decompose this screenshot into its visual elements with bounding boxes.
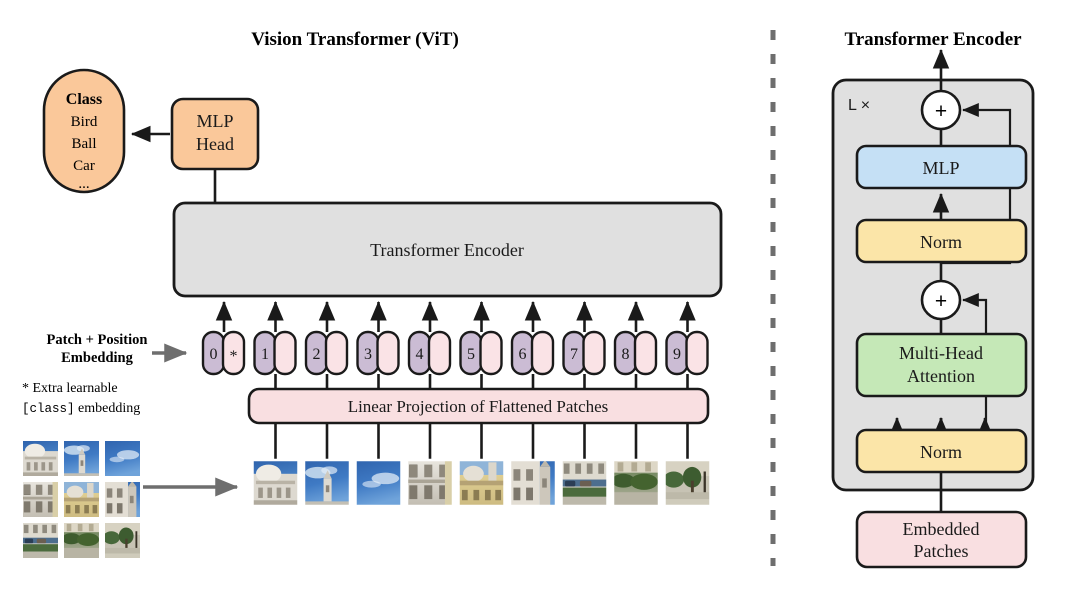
source-patch-2-2	[63, 481, 100, 518]
patch-to-projection-stems	[276, 423, 688, 460]
transformer-encoder-label: Transformer Encoder	[370, 240, 524, 260]
multi-head-attention-label-line2: Attention	[907, 366, 975, 386]
token-1-number: 1	[261, 346, 269, 363]
footnote-line2-rest: embedding	[75, 401, 141, 416]
class-item-bird: Bird	[71, 114, 98, 130]
encoder-repeat-label: L ×	[848, 97, 870, 114]
token-1-patch-capsule	[275, 332, 296, 374]
token-2[interactable]: 2	[306, 332, 347, 374]
flattened-patch-7-image	[562, 460, 608, 506]
token-7-patch-capsule	[584, 332, 605, 374]
token-3-patch-capsule	[378, 332, 399, 374]
patch-position-embedding-label-line1: Patch + Position	[47, 332, 148, 348]
token-4-number: 4	[416, 346, 424, 363]
flattened-patch-6	[510, 460, 556, 506]
mlp-head-label-line1: MLP	[196, 111, 233, 131]
token-2-patch-capsule	[326, 332, 347, 374]
flattened-patch-5	[459, 460, 505, 506]
token-9-patch-capsule	[687, 332, 708, 374]
class-output-heading: Class	[66, 91, 102, 108]
flattened-patch-1	[253, 460, 299, 506]
token-0[interactable]: 0*	[203, 332, 244, 374]
token-4-patch-capsule	[429, 332, 450, 374]
embedded-patches-label-line1: Embedded	[903, 519, 980, 539]
class-item-ball: Ball	[72, 136, 97, 152]
token-4[interactable]: 4	[409, 332, 450, 374]
footnote-class-token: [class]	[22, 402, 75, 416]
flattened-patch-8	[612, 460, 659, 506]
mlp-block-label: MLP	[922, 158, 959, 178]
residual-add-1-symbol: +	[935, 290, 947, 313]
token-8-patch-capsule	[635, 332, 656, 374]
token-6-patch-capsule	[532, 332, 553, 374]
flattened-patch-3-image	[356, 460, 402, 506]
source-patch-1-3	[104, 440, 141, 477]
token-1[interactable]: 1	[255, 332, 296, 374]
token-3-number: 3	[364, 346, 372, 363]
source-patch-3-1	[22, 522, 59, 559]
token-5[interactable]: 5	[461, 332, 502, 374]
source-patch-1-1	[22, 440, 59, 477]
embedded-patches-label-line2: Patches	[914, 541, 969, 561]
vit-architecture-diagram: Vision Transformer (ViT) Transformer Enc…	[0, 0, 1080, 593]
token-7-number: 7	[570, 346, 578, 363]
token-8-number: 8	[622, 346, 630, 363]
figure-canvas: Vision Transformer (ViT) Transformer Enc…	[0, 0, 1080, 593]
source-patch-1-2-image	[63, 440, 100, 477]
source-patch-2-1	[22, 481, 59, 518]
patch-position-embedding-label-line2: Embedding	[61, 350, 133, 366]
token-6[interactable]: 6	[512, 332, 553, 374]
source-patch-1-1-image	[22, 440, 59, 477]
token-5-number: 5	[467, 346, 475, 363]
token-0-class-marker: *	[230, 348, 238, 365]
linear-projection-label: Linear Projection of Flattened Patches	[348, 397, 609, 416]
flattened-patch-7	[562, 460, 608, 506]
source-patch-2-1-image	[22, 481, 59, 518]
token-9-number: 9	[673, 346, 681, 363]
multi-head-attention-label-line1: Multi-Head	[899, 343, 983, 363]
source-patch-3-2-image	[62, 522, 100, 559]
flattened-patch-strip	[253, 460, 711, 506]
token-9[interactable]: 9	[667, 332, 708, 374]
token-2-number: 2	[313, 346, 321, 363]
token-7[interactable]: 7	[564, 332, 605, 374]
footnote-line2: [class] embedding	[22, 401, 140, 416]
class-item-car: Car	[73, 158, 95, 174]
source-image-patch-grid	[22, 440, 141, 559]
source-patch-3-3-image	[103, 522, 141, 559]
flattened-patch-1-image	[253, 460, 299, 506]
projection-to-token-stems	[276, 374, 688, 389]
norm-block-1-label: Norm	[920, 442, 962, 462]
flattened-patch-3	[356, 460, 402, 506]
flattened-patch-9-image	[663, 460, 710, 506]
flattened-patch-5-image	[459, 460, 505, 506]
source-patch-3-1-image	[22, 522, 59, 559]
flattened-patch-9	[663, 460, 710, 506]
token-3[interactable]: 3	[358, 332, 399, 374]
source-patch-3-3	[103, 522, 141, 559]
patch-position-token-row: 0*123456789	[203, 332, 708, 374]
right-panel-title: Transformer Encoder	[844, 29, 1022, 50]
flattened-patch-2	[304, 460, 350, 506]
source-patch-1-2	[63, 440, 100, 477]
mlp-head-label-line2: Head	[196, 134, 234, 154]
class-item-ellipsis: ...	[78, 176, 89, 192]
source-patch-2-3	[104, 481, 141, 518]
residual-add-2-symbol: +	[935, 100, 947, 123]
token-to-encoder-arrows	[224, 302, 688, 332]
token-8[interactable]: 8	[615, 332, 656, 374]
flattened-patch-8-image	[612, 460, 659, 506]
source-patch-2-2-image	[63, 481, 100, 518]
flattened-patch-4	[407, 460, 453, 506]
token-6-number: 6	[519, 346, 527, 363]
token-5-patch-capsule	[481, 332, 502, 374]
source-patch-2-3-image	[104, 481, 141, 518]
source-patch-1-3-image	[104, 440, 141, 477]
flattened-patch-6-image	[510, 460, 556, 506]
flattened-patch-2-image	[304, 460, 350, 506]
norm-block-2-label: Norm	[920, 232, 962, 252]
token-0-number: 0	[210, 346, 218, 363]
left-panel-title: Vision Transformer (ViT)	[251, 29, 459, 50]
flattened-patch-4-image	[407, 460, 453, 506]
source-patch-3-2	[62, 522, 100, 559]
footnote-line1: * Extra learnable	[22, 381, 118, 396]
